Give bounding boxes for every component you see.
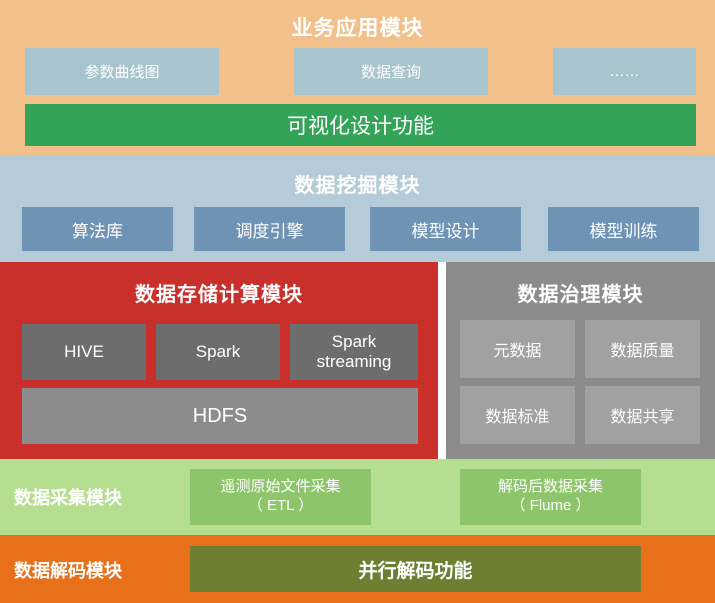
decoding-item-parallel-decoding[interactable]: 并行解码功能 [190, 546, 641, 592]
business-layer-title: 业务应用模块 [0, 12, 715, 42]
business-app-data-query[interactable]: 数据查询 [294, 48, 488, 95]
visualization-design-function[interactable]: 可视化设计功能 [25, 104, 696, 146]
governance-layer-title: 数据治理模块 [446, 278, 715, 307]
business-app-parameter-curve[interactable]: 参数曲线图 [25, 48, 219, 95]
mining-layer-title: 数据挖掘模块 [0, 169, 715, 198]
governance-item-data-standard[interactable]: 数据标准 [460, 386, 575, 444]
mining-item-model-design[interactable]: 模型设计 [370, 207, 521, 251]
data-governance-module: 数据治理模块 元数据 数据质量 数据标准 数据共享 [446, 262, 715, 459]
collection-item-telemetry-raw-file-etl[interactable]: 遥测原始文件采集 （ ETL ） [190, 469, 371, 525]
layer-data-collection: 数据采集模块 遥测原始文件采集 （ ETL ） 解码后数据采集 （ Flume … [0, 459, 715, 535]
storage-layer-title: 数据存储计算模块 [0, 278, 438, 307]
storage-compute-module: 数据存储计算模块 HIVE Spark Spark streaming HDFS [0, 262, 438, 459]
decoding-layer-title: 数据解码模块 [14, 557, 122, 583]
governance-item-data-quality[interactable]: 数据质量 [585, 320, 700, 378]
layer-data-decoding: 数据解码模块 并行解码功能 [0, 535, 715, 603]
governance-item-metadata[interactable]: 元数据 [460, 320, 575, 378]
mining-item-scheduling-engine[interactable]: 调度引擎 [194, 207, 345, 251]
storage-filesystem-hdfs[interactable]: HDFS [22, 388, 418, 444]
layer-storage-and-governance: 数据存储计算模块 HIVE Spark Spark streaming HDFS… [0, 262, 715, 459]
collection-layer-title: 数据采集模块 [14, 484, 122, 510]
storage-engine-spark-streaming[interactable]: Spark streaming [290, 324, 418, 380]
mining-item-model-training[interactable]: 模型训练 [548, 207, 699, 251]
storage-engine-hive[interactable]: HIVE [22, 324, 146, 380]
governance-item-data-sharing[interactable]: 数据共享 [585, 386, 700, 444]
business-app-more[interactable]: …… [553, 48, 696, 95]
mining-item-algorithm-library[interactable]: 算法库 [22, 207, 173, 251]
layer-data-mining: 数据挖掘模块 算法库 调度引擎 模型设计 模型训练 [0, 155, 715, 262]
storage-engine-spark[interactable]: Spark [156, 324, 280, 380]
architecture-diagram: 业务应用模块 参数曲线图 数据查询 …… 可视化设计功能 数据挖掘模块 算法库 … [0, 0, 715, 603]
layer-business-application: 业务应用模块 参数曲线图 数据查询 …… 可视化设计功能 [0, 0, 715, 155]
collection-item-decoded-data-flume[interactable]: 解码后数据采集 （ Flume ） [460, 469, 641, 525]
